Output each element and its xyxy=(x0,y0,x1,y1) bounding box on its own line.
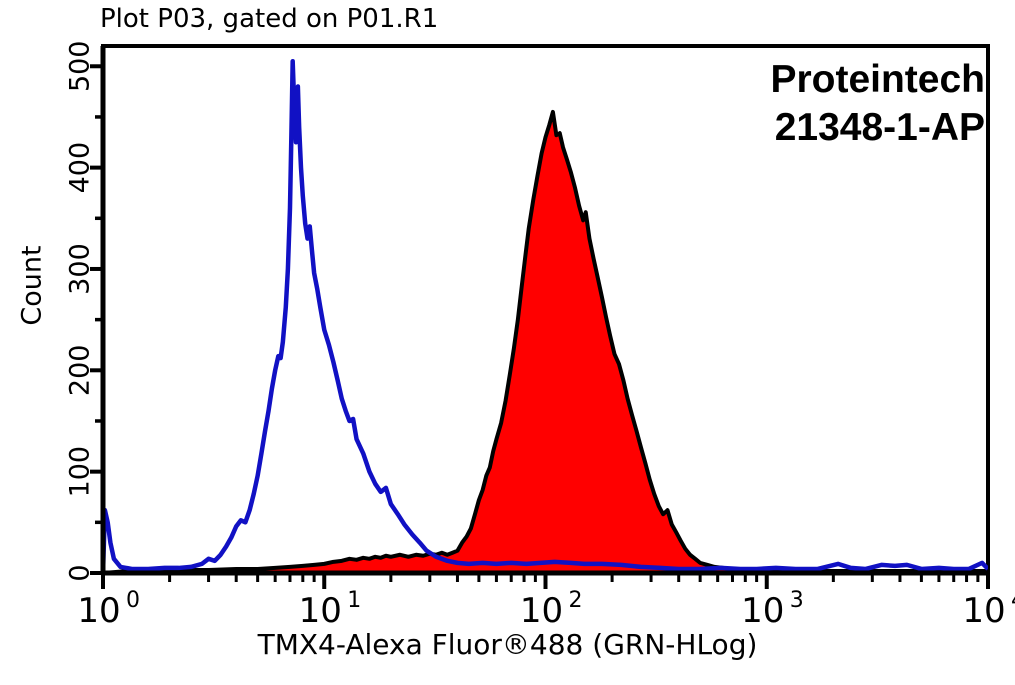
flow-cytometry-histogram: Plot P03, gated on P01.R1 Proteintech 21… xyxy=(0,0,1015,685)
y-tick-label: 0 xyxy=(65,564,96,581)
x-tick-label-base: 10 xyxy=(77,591,120,631)
y-tick-label: 300 xyxy=(65,243,96,295)
x-tick-label-base: 10 xyxy=(741,591,784,631)
x-tick-label-exponent: 1 xyxy=(347,588,361,613)
x-ticks: 100101102103104 xyxy=(77,573,1015,631)
y-ticks: 0100200300400500 xyxy=(65,40,104,581)
x-tick-label-base: 10 xyxy=(299,591,342,631)
series-sample xyxy=(103,112,988,573)
x-tick-label-exponent: 4 xyxy=(1011,588,1015,613)
y-tick-label: 200 xyxy=(65,345,96,397)
x-tick-label-exponent: 3 xyxy=(790,588,804,613)
x-tick-label-base: 10 xyxy=(962,591,1005,631)
y-tick-label: 400 xyxy=(65,142,96,194)
histogram-plot-area: 0100200300400500100101102103104 xyxy=(0,0,1015,685)
x-tick-label-exponent: 2 xyxy=(569,588,583,613)
series-fill xyxy=(103,112,988,573)
x-tick-label-exponent: 0 xyxy=(126,588,140,613)
x-tick-label-base: 10 xyxy=(520,591,563,631)
y-tick-label: 500 xyxy=(65,40,96,92)
y-tick-label: 100 xyxy=(65,446,96,498)
